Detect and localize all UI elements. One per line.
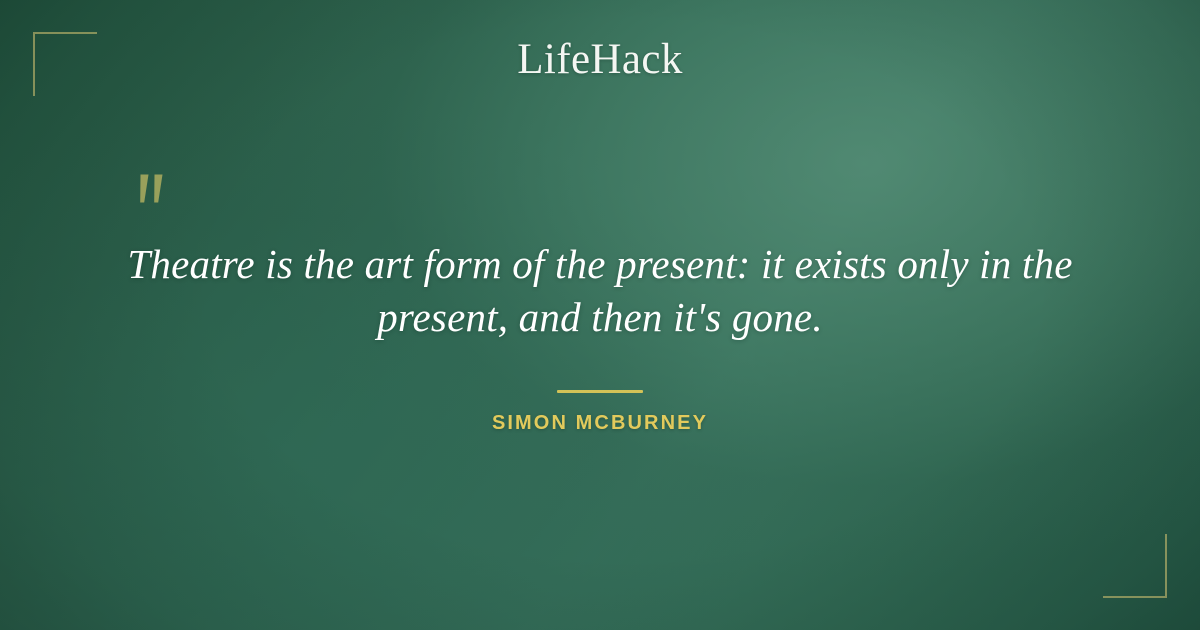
brand-logo: LifeHack (0, 38, 1200, 81)
quote-text: Theatre is the art form of the present: … (110, 238, 1090, 344)
corner-bracket-bottom-right (1103, 534, 1167, 598)
quote-card: LifeHack Theatre is the art form of the … (0, 0, 1200, 630)
author-name: SIMON MCBURNEY (492, 412, 708, 435)
brand-logo-text: LifeHack (517, 38, 683, 81)
quote-block: Theatre is the art form of the present: … (110, 238, 1090, 344)
quotation-mark-icon (134, 172, 178, 216)
attribution-divider (557, 390, 643, 393)
attribution-container: SIMON MCBURNEY (0, 412, 1200, 435)
divider-container (0, 380, 1200, 398)
